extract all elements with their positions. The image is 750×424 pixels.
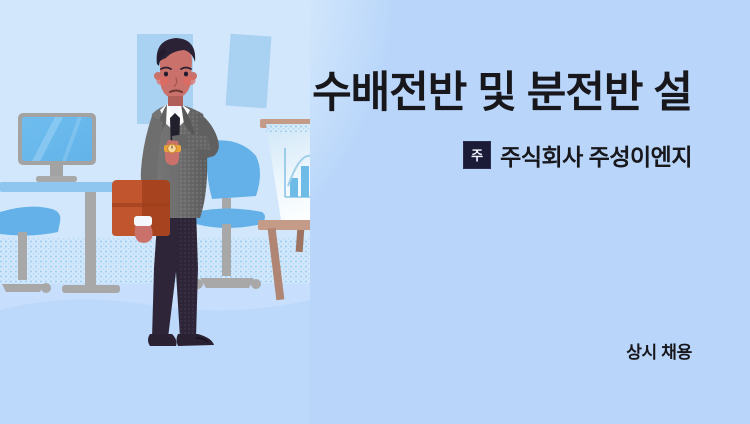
company-identity: 주 주식회사 주성이엔지 [300, 138, 692, 172]
office-illustration [0, 0, 310, 424]
wall-poster-small [226, 34, 272, 109]
recruit-status-label: 상시 채용 [300, 338, 692, 363]
company-name: 주식회사 주성이엔지 [500, 138, 692, 172]
company-badge-icon: 주 [463, 141, 491, 169]
job-posting-banner: 수배전반 및 분전반 설 주 주식회사 주성이엔지 상시 채용 [0, 0, 750, 424]
page-title: 수배전반 및 분전반 설 [300, 70, 692, 116]
